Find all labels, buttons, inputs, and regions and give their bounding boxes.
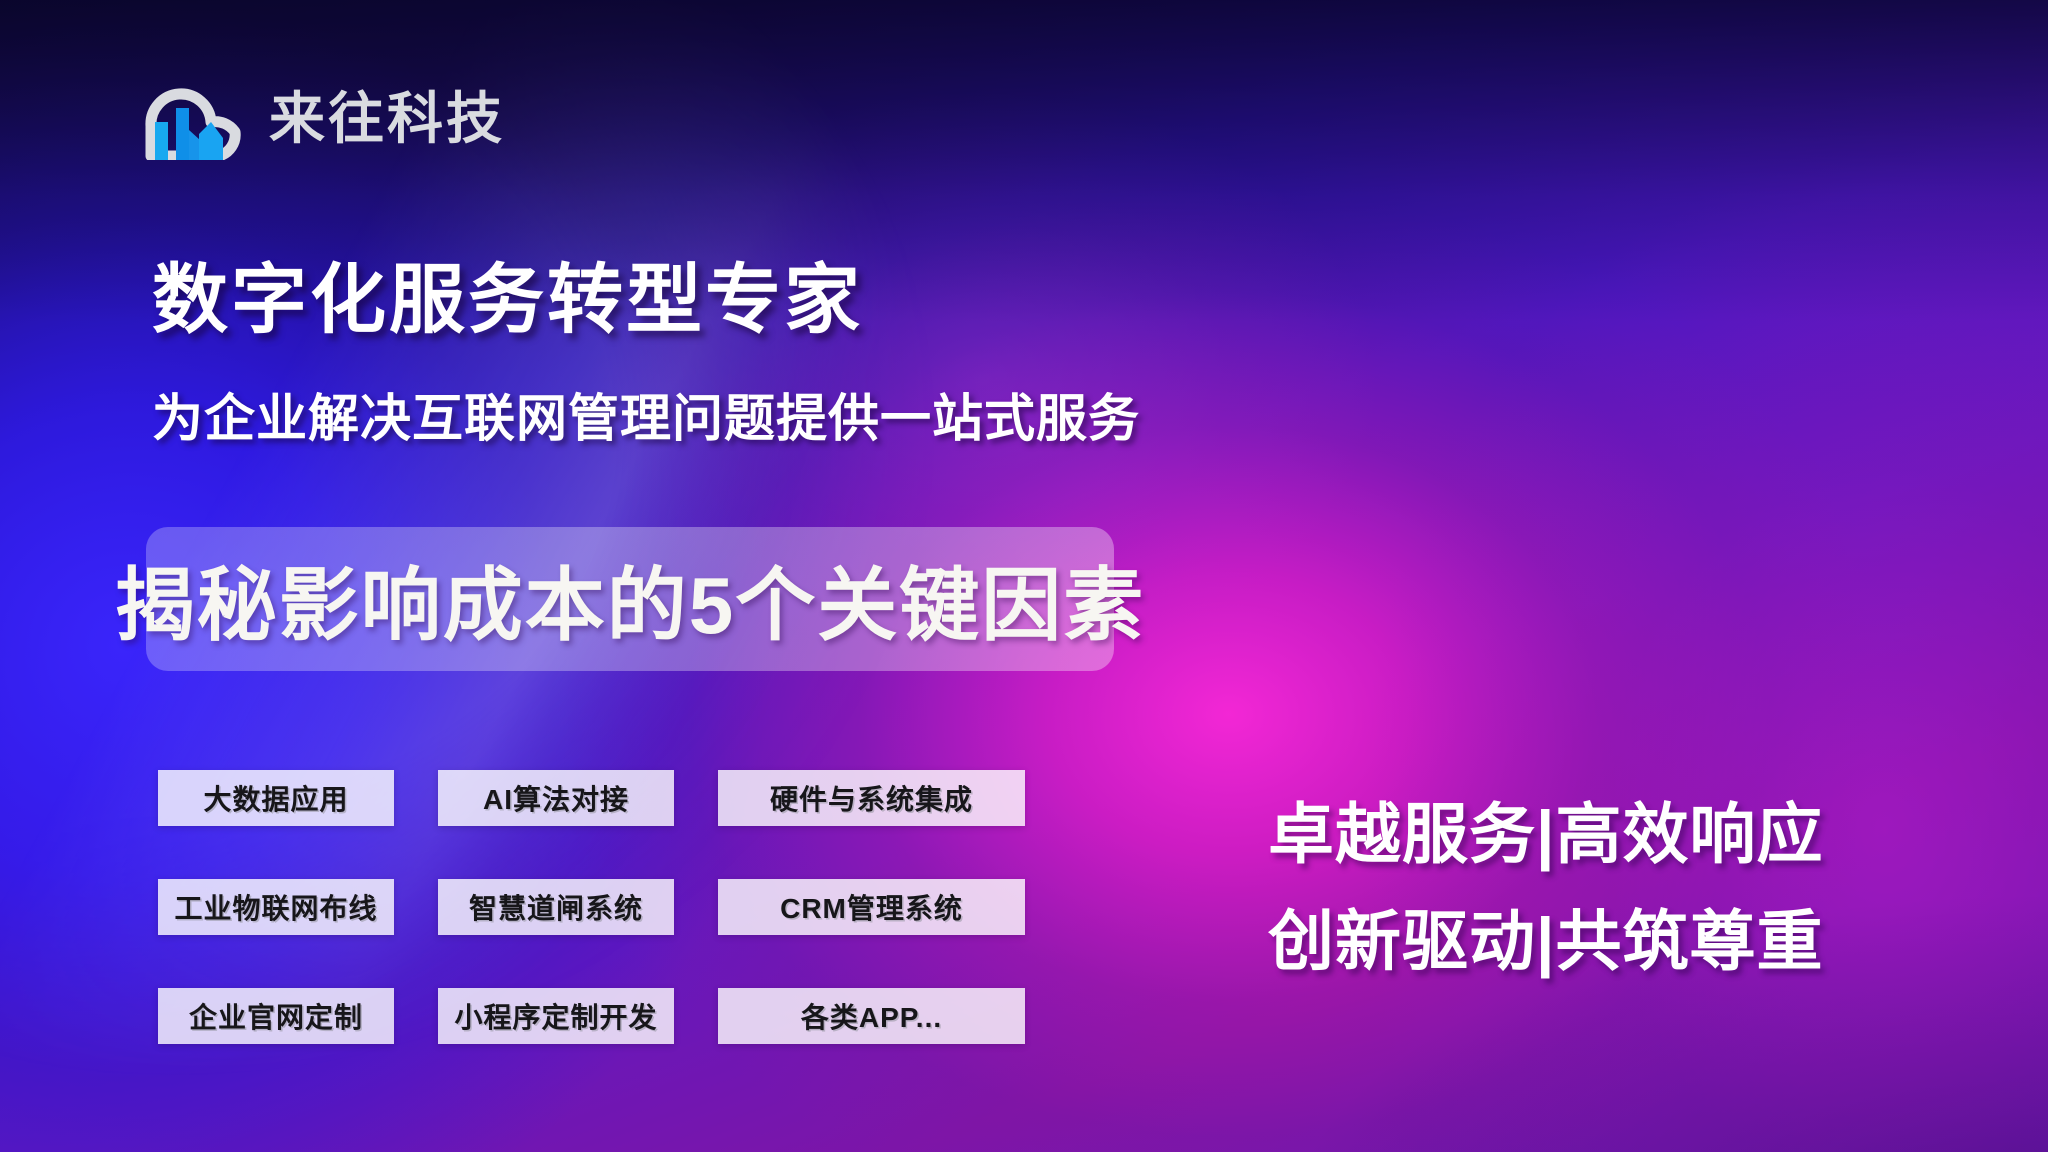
service-tag-label: CRM管理系统: [780, 887, 963, 927]
brand-logo-lockup: 来往科技: [143, 78, 505, 160]
highlight-banner: 揭秘影响成本的5个关键因素: [146, 527, 1114, 671]
service-tag[interactable]: 大数据应用: [158, 770, 394, 826]
promotional-banner-canvas: 来往科技 数字化服务转型专家 为企业解决互联网管理问题提供一站式服务 揭秘影响成…: [0, 0, 2048, 1152]
page-title: 数字化服务转型专家: [152, 258, 863, 343]
slogan-line: 创新驱动|共筑尊重: [1268, 907, 1823, 976]
service-tag[interactable]: 企业官网定制: [158, 988, 394, 1044]
service-tag[interactable]: 各类APP...: [718, 988, 1025, 1044]
cloud-iw-logo-icon: [143, 78, 247, 160]
service-tag[interactable]: 小程序定制开发: [438, 988, 674, 1044]
service-tag-label: 工业物联网布线: [174, 887, 377, 927]
service-tag[interactable]: 工业物联网布线: [158, 879, 394, 935]
brand-wordmark: 来往科技: [269, 91, 505, 147]
service-tag[interactable]: AI算法对接: [438, 770, 674, 826]
service-tag-grid: 大数据应用 AI算法对接 硬件与系统集成 工业物联网布线 智慧道闸系统 CRM管…: [158, 770, 1025, 1044]
slogan-block: 卓越服务|高效响应 创新驱动|共筑尊重: [1268, 800, 1823, 977]
service-tag-label: 各类APP...: [801, 996, 942, 1036]
service-tag-label: 智慧道闸系统: [469, 887, 643, 927]
page-subtitle: 为企业解决互联网管理问题提供一站式服务: [152, 390, 1140, 449]
service-tag-label: 硬件与系统集成: [770, 778, 973, 818]
service-tag[interactable]: 智慧道闸系统: [438, 879, 674, 935]
service-tag-label: 大数据应用: [203, 778, 348, 818]
service-tag-label: AI算法对接: [483, 778, 629, 818]
highlight-banner-label: 揭秘影响成本的5个关键因素: [115, 541, 1146, 657]
slogan-line: 卓越服务|高效响应: [1268, 800, 1823, 869]
service-tag-label: 企业官网定制: [189, 996, 363, 1036]
service-tag[interactable]: 硬件与系统集成: [718, 770, 1025, 826]
service-tag[interactable]: CRM管理系统: [718, 879, 1025, 935]
service-tag-label: 小程序定制开发: [454, 996, 657, 1036]
